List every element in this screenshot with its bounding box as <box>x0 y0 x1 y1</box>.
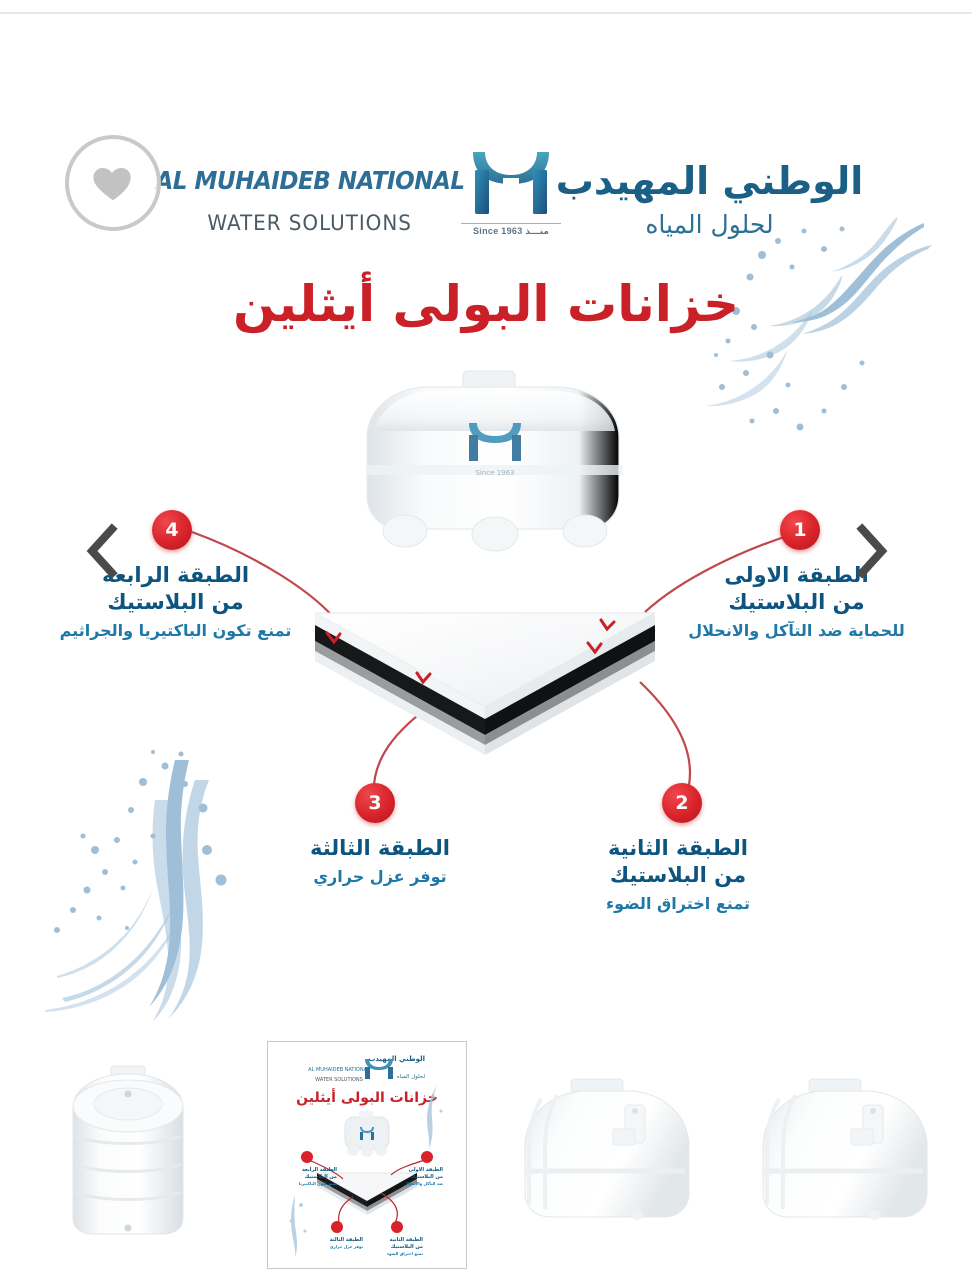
previous-image-button[interactable] <box>80 520 124 582</box>
next-image-button[interactable] <box>850 520 894 582</box>
heart-icon <box>90 160 136 206</box>
layer-4-title-line2: من البلاستيك <box>58 589 293 616</box>
svg-text:تمنع اختراق الضوء: تمنع اختراق الضوء <box>387 1251 424 1256</box>
hero-product-image[interactable]: AL MUHAIDEB NATIONAL WATER SOLUTIONS <box>40 100 932 1020</box>
muhaideb-m-logo-icon <box>465 148 557 220</box>
hero-title: خزانات البولى أيثلين <box>40 275 932 333</box>
svg-text:Since 1963: Since 1963 <box>475 469 514 477</box>
layer-1-title-line2: من البلاستيك <box>679 589 914 616</box>
water-splash-bottom-left <box>40 740 285 1020</box>
brand-logo: Since 1963 منـــذ <box>455 148 567 252</box>
svg-text:لحلول المياه: لحلول المياه <box>396 1074 425 1080</box>
horizontal-tank-image-a <box>513 1065 698 1245</box>
svg-text:الطبقة الثالثة: الطبقة الثالثة <box>329 1237 363 1243</box>
svg-text:تمنع تكون الباكتيريا: تمنع تكون الباكتيريا <box>298 1181 337 1186</box>
thumbnail-strip: الوطني المهيدب AL MUHAIDEB NATIONAL WATE… <box>0 1030 972 1280</box>
layer-2-description: تمنع اختراق الضوء <box>563 894 793 915</box>
product-gallery-page: AL MUHAIDEB NATIONAL WATER SOLUTIONS <box>0 0 972 1280</box>
brand-english-line2: WATER SOLUTIONS <box>208 211 412 235</box>
svg-text:AL MUHAIDEB NATIONAL: AL MUHAIDEB NATIONAL <box>308 1067 370 1073</box>
svg-text:من البلاستيك: من البلاستيك <box>390 1244 422 1250</box>
layer-3-description: توفر عزل حراري <box>265 867 495 888</box>
layer-callout-3: الطبقة الثالثة توفر عزل حراري <box>265 835 495 888</box>
horizontal-tank-image-b <box>751 1065 936 1245</box>
layer-bullet-1: 1 <box>780 510 820 550</box>
chevron-right-icon <box>852 523 892 579</box>
brand-arabic: الوطني المهيدب لحلول المياه <box>577 161 842 240</box>
four-layer-cross-section <box>305 595 665 755</box>
brand-arabic-line2: لحلول المياه <box>645 210 773 239</box>
layer-2-title-line1: الطبقة الثانية <box>563 835 793 862</box>
thumbnail-vertical-tank[interactable] <box>28 1041 228 1269</box>
brand-arabic-line1: الوطني المهيدب <box>556 161 864 203</box>
svg-text:من البلاستيك: من البلاستيك <box>304 1174 336 1180</box>
svg-text:توفر عزل حراري: توفر عزل حراري <box>329 1244 363 1249</box>
brand-english: AL MUHAIDEB NATIONAL WATER SOLUTIONS <box>175 166 445 235</box>
svg-text:الوطني المهيدب: الوطني المهيدب <box>368 1055 425 1063</box>
layer-1-description: للحماية ضد التآكل والانحلال <box>679 621 914 642</box>
brand-english-line1: AL MUHAIDEB NATIONAL <box>155 166 464 195</box>
svg-text:خزانات البولى أيثلين: خزانات البولى أيثلين <box>296 1088 438 1106</box>
svg-text:من البلاستيك: من البلاستيك <box>410 1174 442 1180</box>
infographic-thumbnail-image: الوطني المهيدب AL MUHAIDEB NATIONAL WATE… <box>277 1045 457 1265</box>
layer-4-description: تمنع تكون الباكتيريا والجراثيم <box>58 621 293 642</box>
layer-3-title-line1: الطبقة الثالثة <box>265 835 495 862</box>
layer-2-title-line2: من البلاستيك <box>563 862 793 889</box>
svg-text:ضد التآكل والانحلال: ضد التآكل والانحلال <box>404 1181 443 1186</box>
layer-bullet-4: 4 <box>152 510 192 550</box>
brand-since-label: Since 1963 منـــذ <box>461 223 561 237</box>
layer-bullet-2: 2 <box>662 783 702 823</box>
favorite-button[interactable] <box>65 135 161 231</box>
layer-callout-2: الطبقة الثانية من البلاستيك تمنع اختراق … <box>563 835 793 915</box>
svg-text:الطبقة الاولى: الطبقة الاولى <box>408 1167 443 1173</box>
thumbnail-horizontal-tank-a[interactable] <box>505 1041 705 1269</box>
brand-lockup: AL MUHAIDEB NATIONAL WATER SOLUTIONS <box>175 145 895 255</box>
svg-text:الطبقة الثانية: الطبقة الثانية <box>389 1237 423 1243</box>
svg-text:الطبقة الرابعة: الطبقة الرابعة <box>302 1167 337 1173</box>
vertical-tank-image <box>53 1060 203 1250</box>
thumbnail-horizontal-tank-b[interactable] <box>744 1041 944 1269</box>
top-divider <box>0 12 972 14</box>
horizontal-tank-photo: Since 1963 <box>345 365 645 565</box>
layer-bullet-3: 3 <box>355 783 395 823</box>
thumbnail-infographic[interactable]: الوطني المهيدب AL MUHAIDEB NATIONAL WATE… <box>267 1041 467 1269</box>
chevron-left-icon <box>82 523 122 579</box>
svg-text:WATER SOLUTIONS: WATER SOLUTIONS <box>315 1077 363 1083</box>
